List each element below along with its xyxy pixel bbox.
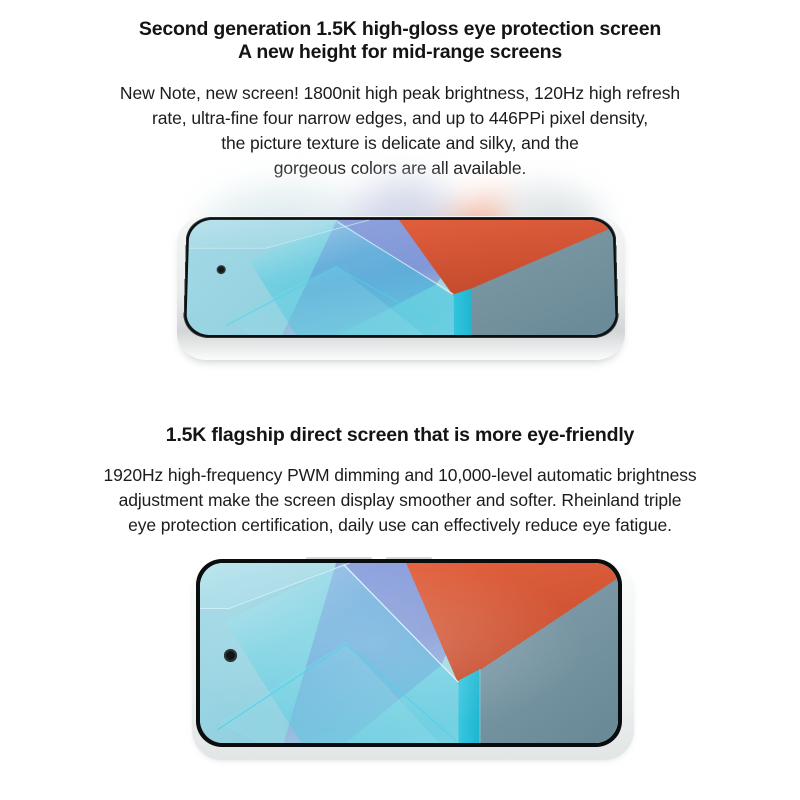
body-line: adjustment make the screen display smoot… xyxy=(0,488,800,513)
headline-line: Second generation 1.5K high-gloss eye pr… xyxy=(0,18,800,41)
front-camera-punch-hole-icon xyxy=(224,649,237,662)
product-feature-page: Second generation 1.5K high-gloss eye pr… xyxy=(0,0,800,800)
phone-tilted xyxy=(168,186,634,368)
geometric-prism-wallpaper xyxy=(186,220,616,335)
section-1-body: New Note, new screen! 1800nit high peak … xyxy=(0,81,800,181)
section-eye-friendly: 1.5K flagship direct screen that is more… xyxy=(0,424,800,538)
section-2-body: 1920Hz high-frequency PWM dimming and 10… xyxy=(0,463,800,538)
section-2-headline: 1.5K flagship direct screen that is more… xyxy=(0,424,800,447)
phone-flat-bezel xyxy=(196,559,622,747)
section-1-headline: Second generation 1.5K high-gloss eye pr… xyxy=(0,12,800,64)
phone-flat-screen[interactable] xyxy=(200,563,618,743)
geometric-prism-wallpaper xyxy=(200,563,618,743)
headline-line: 1.5K flagship direct screen that is more… xyxy=(0,424,800,447)
phone-flat xyxy=(188,554,636,768)
phone-tilted-screen[interactable] xyxy=(186,220,616,335)
section-screen-intro: Second generation 1.5K high-gloss eye pr… xyxy=(0,12,800,181)
headline-line: A new height for mid-range screens xyxy=(0,41,800,64)
body-line: eye protection certification, daily use … xyxy=(0,513,800,538)
body-line: rate, ultra-fine four narrow edges, and … xyxy=(0,106,800,131)
phone-tilted-bezel xyxy=(183,217,619,338)
body-line: New Note, new screen! 1800nit high peak … xyxy=(0,81,800,106)
body-line: the picture texture is delicate and silk… xyxy=(0,131,800,156)
body-line: 1920Hz high-frequency PWM dimming and 10… xyxy=(0,463,800,488)
